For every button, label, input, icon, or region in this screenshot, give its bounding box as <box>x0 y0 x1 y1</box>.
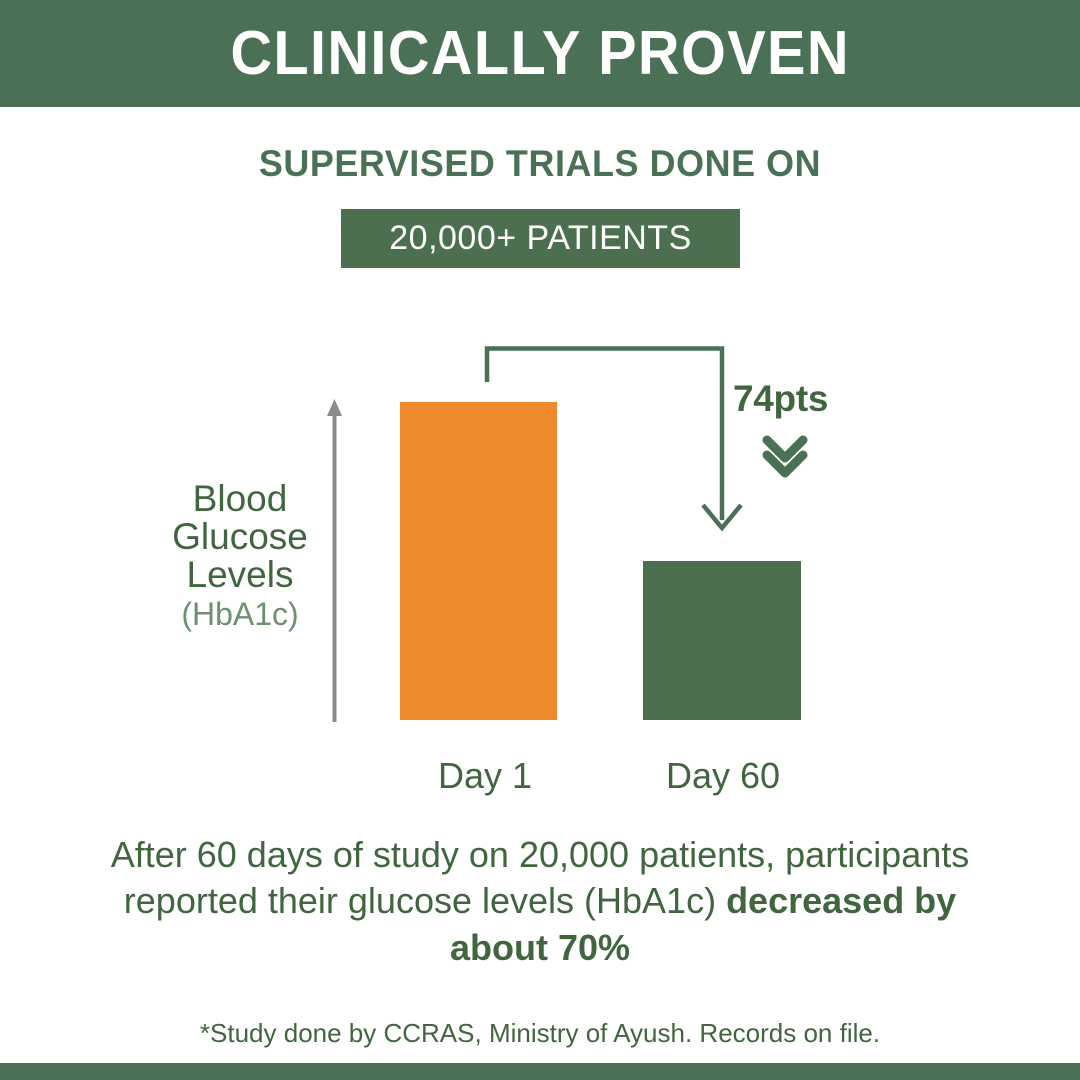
y-axis-label-line-1: Blood <box>150 480 330 518</box>
footer-bar <box>0 1063 1080 1080</box>
x-axis-tick-day-1: Day 1 <box>385 755 585 797</box>
decrease-connector-arrow-icon <box>487 349 741 529</box>
decrease-annotation-label: 74pts <box>733 378 828 420</box>
y-axis-label-line-3: Levels <box>150 556 330 594</box>
y-axis-label-sub: (HbA1c) <box>150 598 330 631</box>
y-axis-label-line-2: Glucose <box>150 518 330 556</box>
double-chevron-down-icon <box>767 440 803 473</box>
patient-count-label: 20,000+ PATIENTS <box>389 219 692 258</box>
x-axis-tick-day-60: Day 60 <box>623 755 823 797</box>
header-banner: CLINICALLY PROVEN <box>0 0 1080 107</box>
bar-day-1 <box>400 402 557 720</box>
subtitle-heading: SUPERVISED TRIALS DONE ON <box>16 143 1064 185</box>
bar-day-60 <box>643 561 801 720</box>
summary-paragraph: After 60 days of study on 20,000 patient… <box>90 832 990 971</box>
y-axis-label: Blood Glucose Levels (HbA1c) <box>150 480 330 631</box>
patient-count-badge: 20,000+ PATIENTS <box>341 209 740 268</box>
page-title: CLINICALLY PROVEN <box>230 23 850 85</box>
footnote-text: *Study done by CCRAS, Ministry of Ayush.… <box>90 1018 990 1049</box>
